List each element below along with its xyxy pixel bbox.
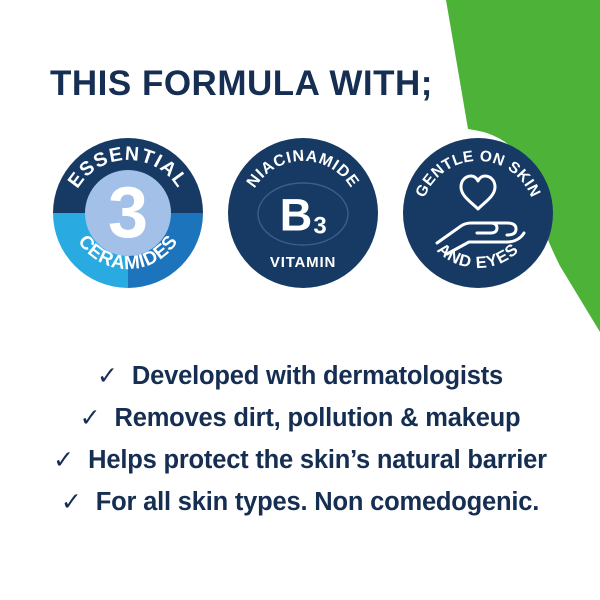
benefit-label: Developed with dermatologists bbox=[132, 362, 503, 391]
benefits-list: ✓ Developed with dermatologists ✓ Remove… bbox=[0, 362, 600, 530]
badge-gentle-on-skin-and-eyes: GENTLE ON SKIN AND EYES bbox=[403, 138, 553, 288]
benefit-item: ✓ For all skin types. Non comedogenic. bbox=[0, 488, 600, 530]
badge-center-letter: B bbox=[280, 190, 313, 241]
benefit-item: ✓ Helps protect the skin’s natural barri… bbox=[0, 446, 600, 488]
badge-essential-ceramides: ESSENTIAL CERAMIDES 3 bbox=[53, 138, 203, 288]
benefit-item: ✓ Developed with dermatologists bbox=[0, 362, 600, 404]
badge-center-subscript: 3 bbox=[313, 213, 326, 240]
page-title: THIS FORMULA WITH; bbox=[50, 64, 433, 104]
check-icon: ✓ bbox=[61, 490, 82, 515]
badge-bottom-label: VITAMIN bbox=[270, 254, 336, 271]
check-icon: ✓ bbox=[97, 364, 118, 389]
benefit-item: ✓ Removes dirt, pollution & makeup bbox=[0, 404, 600, 446]
product-benefits-panel: THIS FORMULA WITH; ESSENTIAL bbox=[0, 0, 600, 600]
check-icon: ✓ bbox=[53, 448, 74, 473]
benefit-label: Helps protect the skin’s natural barrier bbox=[88, 446, 547, 475]
ingredient-badges-row: ESSENTIAL CERAMIDES 3 NIACINAMIDE B bbox=[0, 138, 600, 290]
badge-niacinamide-vitamin-b3: NIACINAMIDE B 3 VITAMIN bbox=[228, 138, 378, 288]
check-icon: ✓ bbox=[80, 406, 101, 431]
badge-center-number: 3 bbox=[108, 173, 148, 253]
benefit-label: Removes dirt, pollution & makeup bbox=[115, 404, 521, 433]
benefit-label: For all skin types. Non comedogenic. bbox=[96, 488, 539, 517]
